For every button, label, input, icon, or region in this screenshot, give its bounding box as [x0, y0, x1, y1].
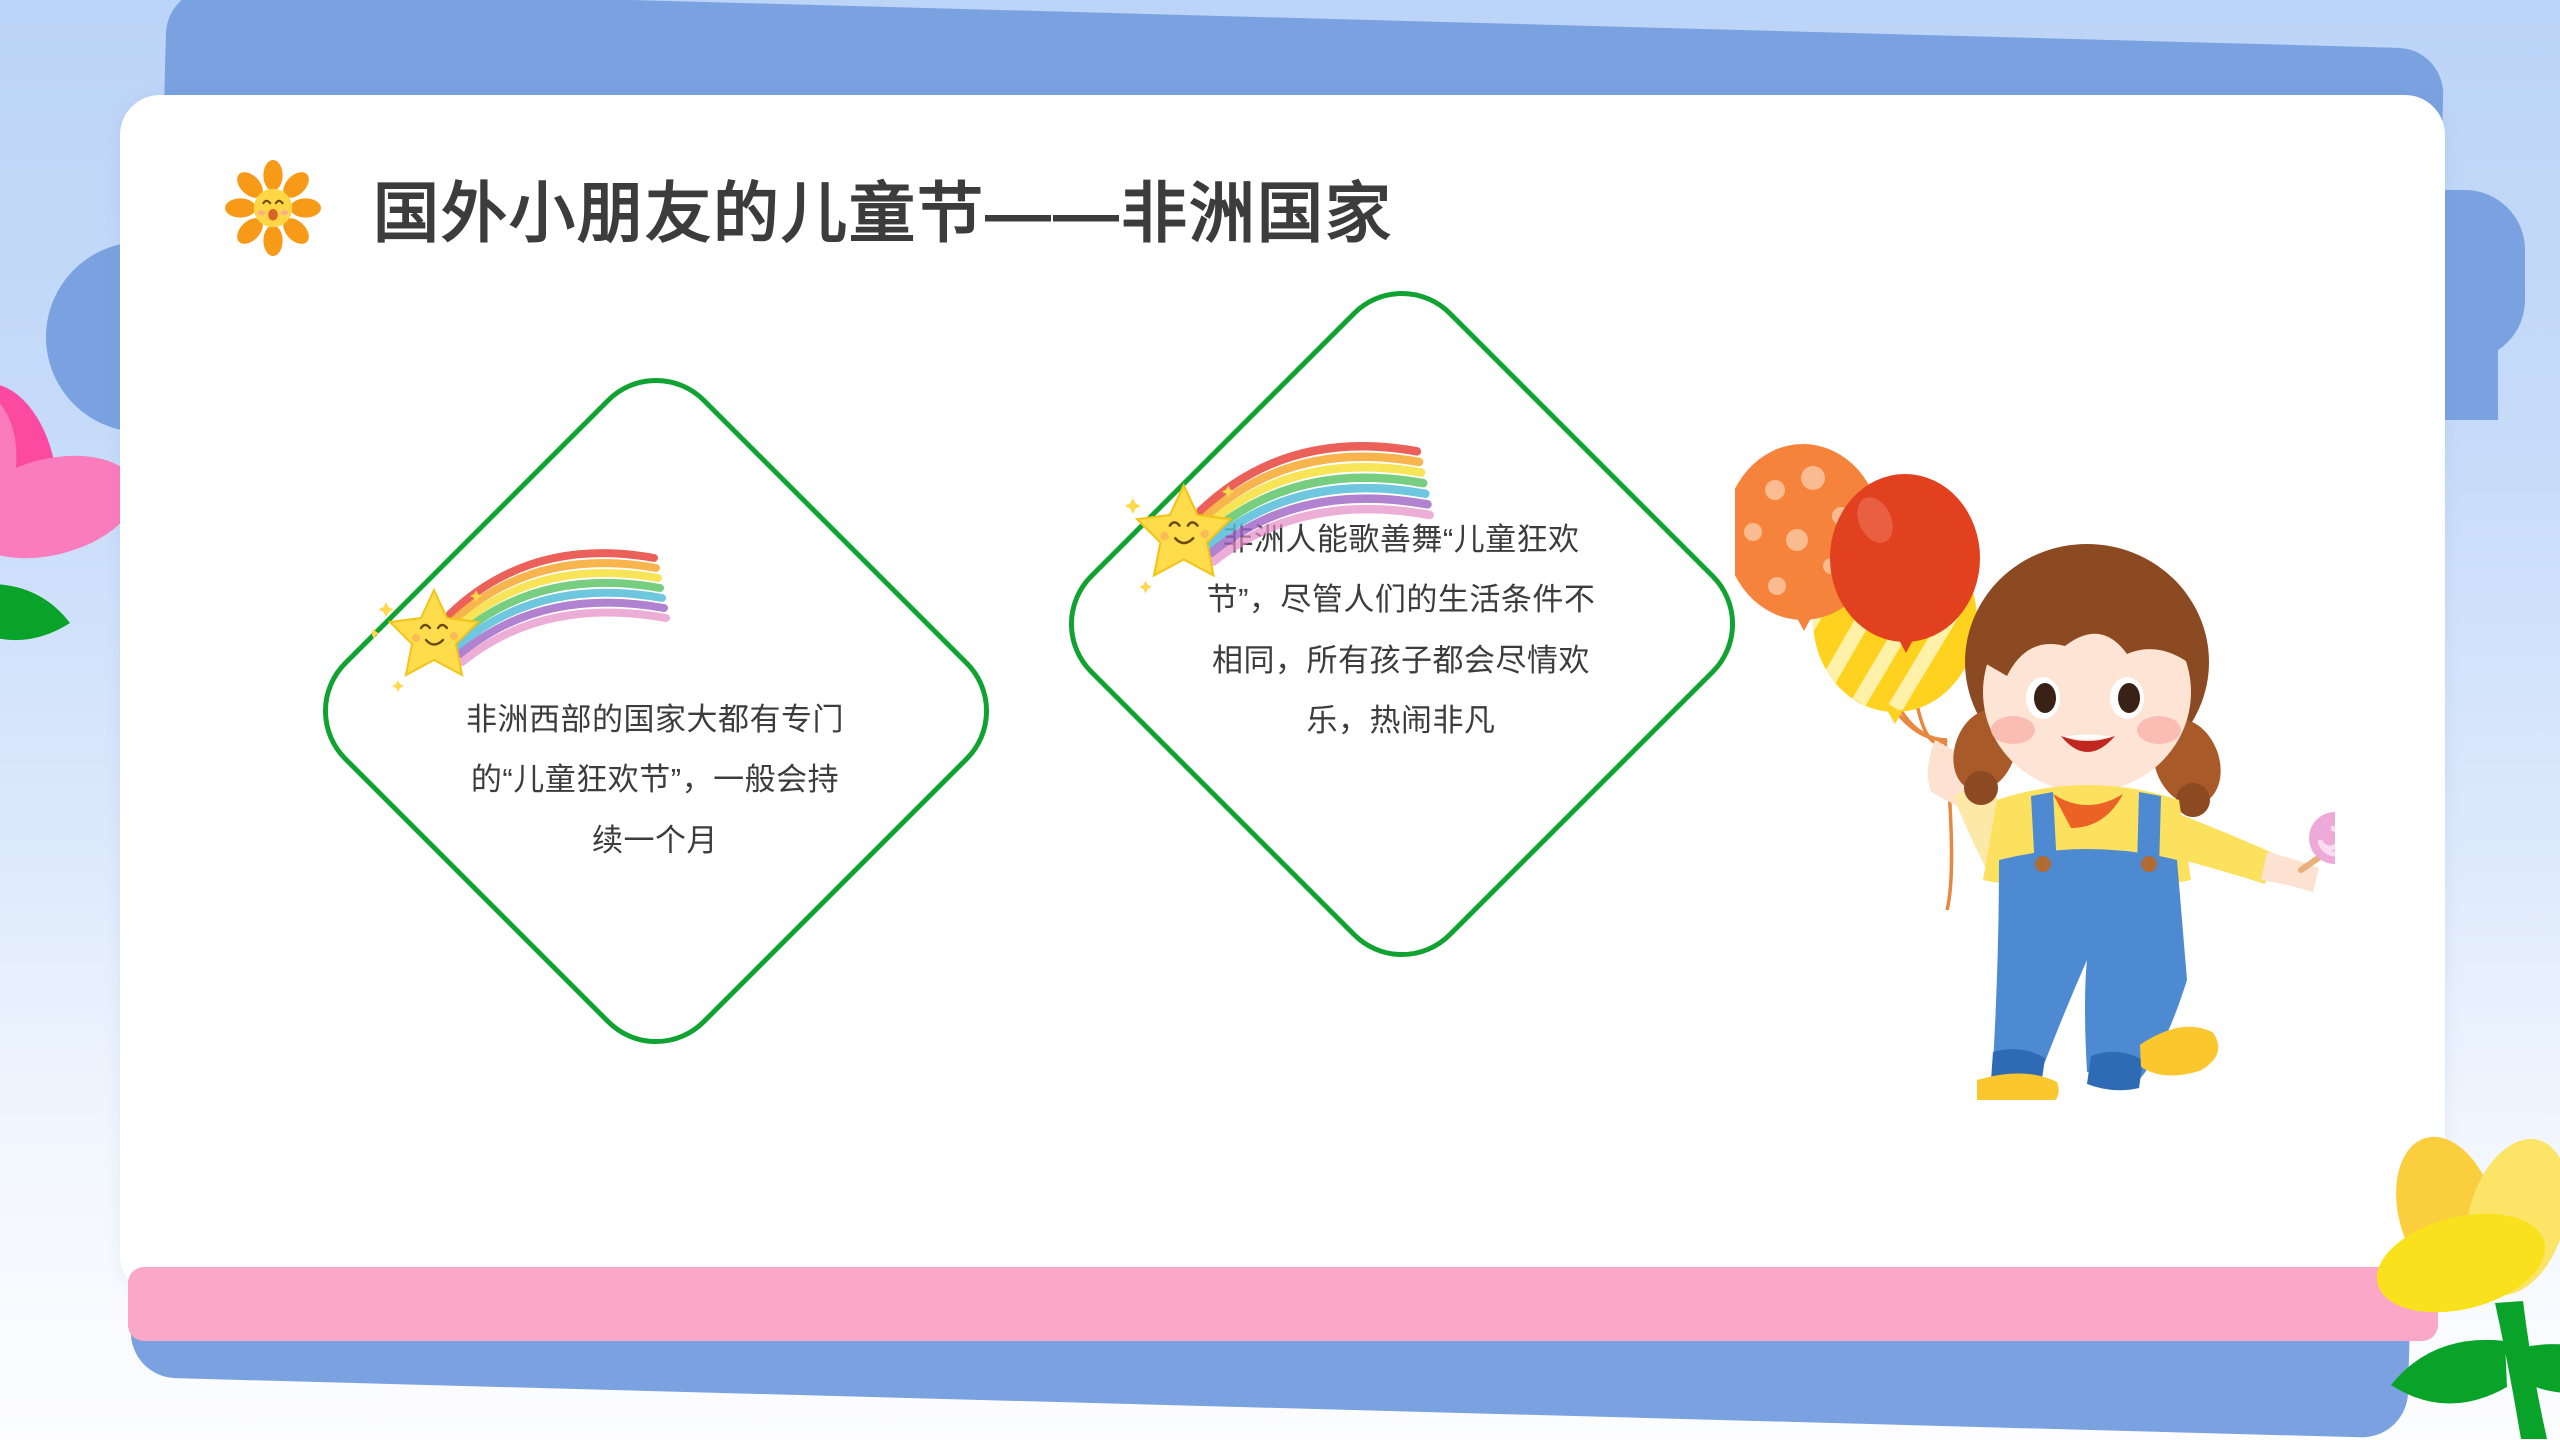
page-title-row: 国外小朋友的儿童节——非洲国家	[225, 160, 1393, 256]
girl-with-balloons-illustration	[1735, 440, 2335, 1100]
slide-canvas: 国外小朋友的儿童节——非洲国家 非洲西部的国家大都有专门的“儿童狂欢节”，一般会…	[0, 0, 2560, 1440]
pink-accent-bar	[128, 1267, 2438, 1341]
sunflower-icon	[225, 160, 321, 256]
shooting-star-rainbow-icon	[1118, 392, 1436, 593]
diamond-1-text: 非洲西部的国家大都有专门的“儿童狂欢节”，一般会持续一个月	[460, 690, 850, 871]
shooting-star-rainbow-icon	[372, 502, 672, 692]
pink-lollipop-icon	[2309, 812, 2335, 864]
yellow-tulip-icon	[2375, 1135, 2560, 1440]
page-title: 国外小朋友的儿童节——非洲国家	[373, 160, 1393, 256]
